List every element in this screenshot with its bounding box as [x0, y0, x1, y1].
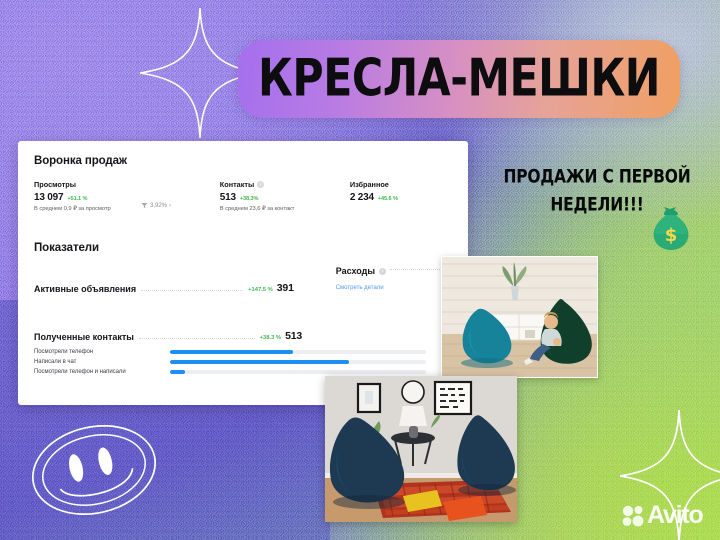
funnel-value-views: 13 097 [34, 192, 63, 203]
contacts-header-row: Полученные контакты +38.3 % 513 [34, 330, 452, 342]
info-icon[interactable] [379, 268, 386, 275]
expenses-title-row: Расходы [336, 266, 452, 276]
bar-fill [170, 360, 349, 365]
funnel-delta-favorites: +45.6 % [378, 196, 398, 202]
bar-label: Посмотрели телефон и написали [34, 369, 170, 375]
bar-track [170, 350, 426, 355]
svg-text:$: $ [665, 225, 678, 246]
funnel-column-contacts: Контакты 513 +38.3% В среднем 23,6 ₽ за … [220, 180, 350, 212]
avito-logo-icon [622, 505, 644, 527]
indicators-heading: Показатели [34, 242, 452, 254]
title-pill: КРЕСЛА-МЕШКИ [238, 40, 680, 118]
bar-fill [170, 370, 185, 375]
funnel-label-text: Избранное [350, 180, 389, 189]
indicators-section: Показатели Активные объявления +147.5 % … [34, 242, 452, 294]
funnel-label-text: Просмотры [34, 180, 76, 189]
expenses-label: Расходы [336, 266, 375, 276]
money-bag-icon: $ [648, 205, 694, 251]
avito-wordmark: Avito [647, 503, 703, 528]
active-ads-metric[interactable]: Активные объявления +147.5 % 391 [34, 282, 294, 294]
funnel-label-views: Просмотры [34, 180, 220, 189]
contacts-value: 513 [285, 330, 302, 342]
list-item: Посмотрели телефон и написали 23 [34, 369, 452, 375]
funnel-column-favorites: Избранное 2 234 +45.6 % [350, 180, 452, 212]
contacts-breakdown: Посмотрели телефон 199 Написали в чат 29… [34, 349, 452, 375]
leader-dots [141, 290, 243, 291]
expenses-details-link[interactable]: Смотреть детали [336, 285, 384, 291]
funnel-columns: Просмотры 13 097 +51.1 % В среднем 0,9 ₽… [34, 180, 452, 212]
photo-beanbags-navy-living-room [325, 376, 517, 522]
contacts-delta: +38.3 % [260, 335, 281, 341]
list-item: Посмотрели телефон 199 [34, 349, 452, 355]
indicators-row: Активные объявления +147.5 % 391 Расходы… [34, 266, 452, 294]
funnel-label-contacts: Контакты [220, 180, 350, 189]
bar-track [170, 360, 426, 365]
funnel-value-favorites: 2 234 [350, 192, 374, 203]
funnel-heading: Воронка продаж [34, 155, 452, 167]
funnel-column-views: Просмотры 13 097 +51.1 % В среднем 0,9 ₽… [34, 180, 220, 212]
bar-fill [170, 350, 293, 355]
funnel-label-favorites: Избранное [350, 180, 452, 189]
poster-canvas: КРЕСЛА-МЕШКИ ПРОДАЖИ С ПЕРВОЙ НЕДЕЛИ!!! … [0, 0, 720, 540]
funnel-conversion-chevron: › [169, 203, 171, 209]
info-icon[interactable] [257, 181, 264, 188]
funnel-conversion: 3,92% › [141, 202, 171, 209]
funnel-value-contacts: 513 [220, 192, 236, 203]
active-ads-label: Активные объявления [34, 284, 136, 294]
active-ads-delta: +147.5 % [248, 287, 273, 293]
bar-label: Написали в чат [34, 359, 170, 365]
funnel-conversion-value: 3,92% [150, 203, 167, 209]
bar-track [170, 370, 426, 375]
bar-label: Посмотрели телефон [34, 349, 170, 355]
avito-stats-card: Воронка продаж Просмотры 13 097 +51.1 % … [18, 141, 468, 405]
avito-watermark: Avito [622, 503, 703, 528]
list-item: Написали в чат 291 [34, 359, 452, 365]
contacts-section: Полученные контакты +38.3 % 513 Посмотре… [34, 330, 452, 375]
active-ads-value: 391 [277, 282, 294, 294]
photo-beanbags-teal-green-child [441, 256, 598, 378]
contacts-label: Полученные контакты [34, 332, 134, 342]
funnel-sub-views: В среднем 0,9 ₽ за просмотр [34, 206, 220, 212]
funnel-icon [141, 202, 148, 209]
funnel-sub-contacts: В среднем 23,6 ₽ за контакт [220, 206, 350, 212]
expenses-block: Расходы Смотреть детали [336, 266, 452, 294]
funnel-label-text: Контакты [220, 180, 254, 189]
headline-line-1: ПРОДАЖИ С ПЕРВОЙ [503, 165, 690, 187]
leader-dots [139, 338, 255, 339]
page-title: КРЕСЛА-МЕШКИ [245, 53, 674, 105]
funnel-delta-views: +51.1 % [67, 196, 87, 202]
contacts-total[interactable]: Полученные контакты +38.3 % 513 [34, 330, 302, 342]
funnel-delta-contacts: +38.3% [240, 196, 259, 202]
